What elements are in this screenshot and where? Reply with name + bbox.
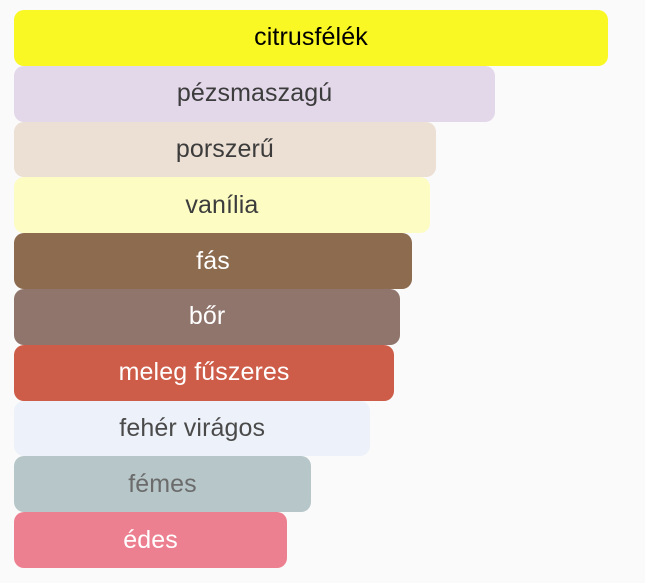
bar-label: fémes <box>128 472 197 497</box>
bar-label: édes <box>123 528 178 553</box>
horizontal-bar-chart: citrusfélékpézsmaszagúporszerűvaníliafás… <box>0 0 645 583</box>
bar-label: citrusfélék <box>254 25 368 50</box>
bar-row[interactable]: bőr <box>14 289 400 345</box>
bar-row[interactable]: édes <box>14 512 287 568</box>
bar-row[interactable]: fehér virágos <box>14 401 370 457</box>
bar-row[interactable]: pézsmaszagú <box>14 66 495 122</box>
bar-label: meleg fűszeres <box>119 360 290 385</box>
bar-row[interactable]: citrusfélék <box>14 10 608 66</box>
bar-label: bőr <box>189 304 225 329</box>
bar-label: fás <box>196 249 230 274</box>
bar-label: vanília <box>185 193 258 218</box>
bar-label: fehér virágos <box>119 416 265 441</box>
bar-row[interactable]: meleg fűszeres <box>14 345 394 401</box>
bar-row[interactable]: vanília <box>14 177 430 233</box>
bar-row[interactable]: porszerű <box>14 122 436 178</box>
bar-label: porszerű <box>176 137 274 162</box>
bar-label: pézsmaszagú <box>177 81 332 106</box>
bar-row[interactable]: fás <box>14 233 412 289</box>
bar-row[interactable]: fémes <box>14 456 311 512</box>
